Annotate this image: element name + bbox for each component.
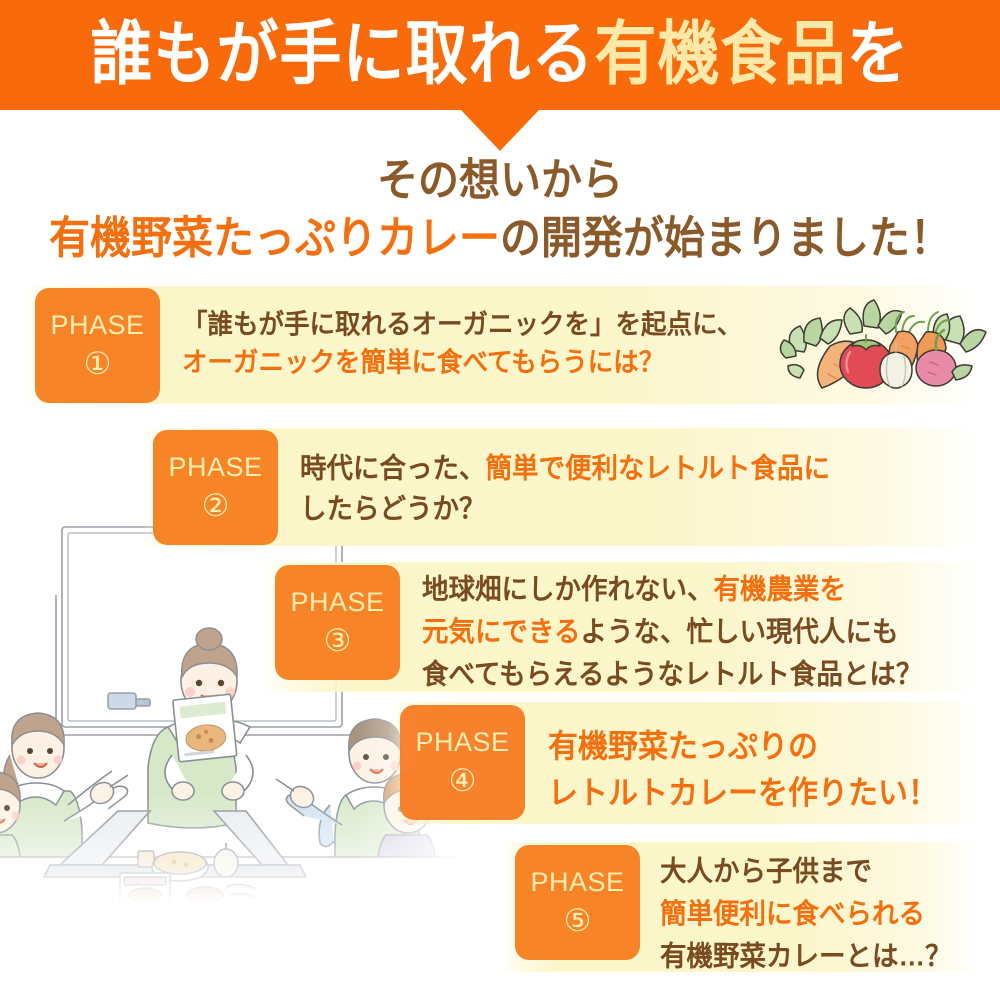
phase-1-line-2: オーガニックを簡単に食べてもらうには？ (182, 344, 742, 382)
phase-badge-label-5: PHASE (530, 869, 624, 896)
phase-3-seg-5: 食べてもらえるようなレトルト食品とは？ (422, 658, 922, 690)
phase-2-line-2: したらどうか？ (300, 488, 830, 528)
phase-3-seg-3: 元気にできる (422, 616, 580, 648)
header-title-part1: 誰もが手に取れる (90, 16, 594, 93)
phase-5-seg-2: 簡単便利に食べられる (660, 898, 925, 930)
phase-text-4: 有機野菜たっぷりの レトルトカレーを作りたい！ (548, 724, 938, 817)
phase-4-line-1: 有機野菜たっぷりの (548, 724, 938, 771)
phase-badge-4[interactable]: PHASE ④ (400, 705, 525, 820)
phase-3-line-2: 元気にできるような、忙しい現代人にも (422, 610, 922, 652)
phase-text-3: 地球畑にしか作れない、有機農業を 元気にできるような、忙しい現代人にも 食べても… (422, 568, 922, 695)
phase-4-seg-1: 有機野菜たっぷりの (548, 729, 818, 764)
subtitle-line1: その想いから (0, 153, 1000, 208)
header-banner: 誰もが手に取れる有機食品を (0, 0, 1000, 110)
phase-3-seg-2: 有機農業を (714, 573, 847, 605)
infographic-page: 誰もが手に取れる有機食品を その想いから 有機野菜たっぷりカレーの開発が始まりま… (0, 0, 1000, 1000)
phase-text-5: 大人から子供まで 簡単便利に食べられる 有機野菜カレーとは…？ (660, 850, 952, 977)
phase-3-line-1: 地球畑にしか作れない、有機農業を (422, 568, 922, 610)
phase-badge-number-3: ③ (324, 625, 352, 656)
phase-badge-label-3: PHASE (290, 589, 384, 616)
phase-badge-label-2: PHASE (168, 454, 262, 481)
phase-2-seg-1: 時代に合った、 (300, 452, 486, 484)
vegetables-illustration (778, 292, 990, 402)
phase-5-seg-1: 大人から子供まで (660, 855, 872, 887)
phase-5-line-2: 簡単便利に食べられる (660, 892, 952, 934)
phase-2-seg-2: 簡単で便利なレトルト食品に (486, 452, 831, 484)
phase-badge-number-2: ② (202, 490, 230, 521)
phase-5-line-3: 有機野菜カレーとは…？ (660, 935, 952, 977)
phase-badge-2[interactable]: PHASE ② (153, 430, 278, 545)
phase-badge-label-1: PHASE (50, 312, 144, 339)
phase-2-seg-3: したらどうか？ (300, 493, 486, 525)
phase-1-seg-2: オーガニックを簡単に食べてもらうには？ (182, 348, 664, 378)
phase-badge-label-4: PHASE (415, 729, 509, 756)
phase-5-line-1: 大人から子供まで (660, 850, 952, 892)
subtitle-line2-rest: の開発が始まりました！ (500, 213, 951, 263)
phase-badge-number-1: ① (84, 348, 112, 379)
subtitle-line2-highlight: 有機野菜たっぷりカレー (49, 213, 500, 263)
header-title-highlight: 有機食品 (594, 16, 846, 93)
phase-3-seg-4: ような、忙しい現代人にも (580, 616, 898, 648)
phase-badge-5[interactable]: PHASE ⑤ (515, 845, 640, 960)
phase-text-1: 「誰もが手に取れるオーガニックを」を起点に、 オーガニックを簡単に食べてもらうに… (182, 306, 742, 382)
phase-4-line-2: レトルトカレーを作りたい！ (548, 771, 938, 818)
phase-badge-3[interactable]: PHASE ③ (275, 565, 400, 680)
phase-1-line-1: 「誰もが手に取れるオーガニックを」を起点に、 (182, 306, 742, 344)
phase-4-seg-2: レトルトカレーを作りたい！ (548, 776, 938, 811)
phase-badge-1[interactable]: PHASE ① (35, 288, 160, 403)
header-title-part2: を (847, 16, 910, 93)
phase-text-2: 時代に合った、簡単で便利なレトルト食品に したらどうか？ (300, 448, 830, 529)
header-title: 誰もが手に取れる有機食品を (90, 20, 909, 89)
phase-3-line-3: 食べてもらえるようなレトルト食品とは？ (422, 653, 922, 695)
phase-badge-number-5: ⑤ (564, 905, 592, 936)
phase-5-seg-3: 有機野菜カレーとは…？ (660, 940, 952, 972)
subtitle-line2: 有機野菜たっぷりカレーの開発が始まりました！ (0, 210, 1000, 268)
subtitle-block: その想いから 有機野菜たっぷりカレーの開発が始まりました！ (0, 155, 1000, 266)
phase-3-seg-1: 地球畑にしか作れない、 (422, 573, 714, 605)
header-arrow-notch (460, 109, 540, 151)
phase-badge-number-4: ④ (449, 765, 477, 796)
phase-2-line-1: 時代に合った、簡単で便利なレトルト食品に (300, 448, 830, 488)
phase-1-seg-1: 「誰もが手に取れるオーガニックを」を起点に、 (182, 310, 742, 340)
